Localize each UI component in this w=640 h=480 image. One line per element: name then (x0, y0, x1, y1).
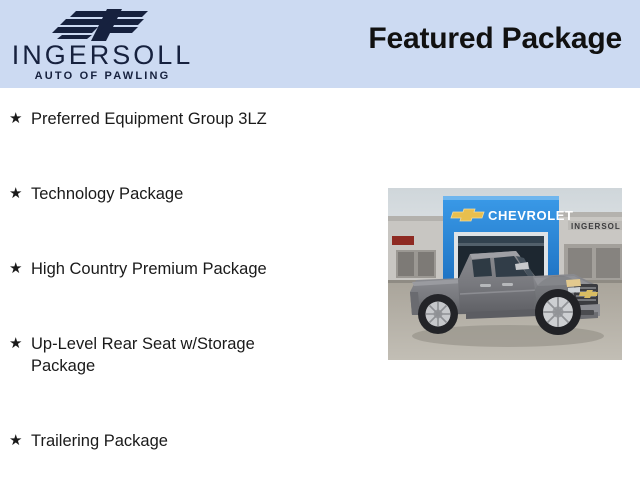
brand-logo: INGERSOLL AUTO OF PAWLING (0, 4, 205, 86)
list-item: ★ High Country Premium Package (9, 258, 339, 280)
ingersoll-wing-emblem-icon (52, 8, 148, 42)
list-item: ★ Trailering Package (9, 430, 339, 452)
star-bullet-icon: ★ (9, 108, 31, 130)
brand-wordmark: INGERSOLL (0, 42, 205, 69)
list-item: ★ Technology Package (9, 183, 339, 205)
list-item: ★ Up-Level Rear Seat w/Storage Package (9, 333, 339, 377)
list-item: ★ Preferred Equipment Group 3LZ (9, 108, 339, 130)
list-item-label: Trailering Package (31, 430, 339, 452)
svg-text:CHEVROLET: CHEVROLET (488, 208, 574, 223)
page-title: Featured Package (368, 22, 622, 56)
star-bullet-icon: ★ (9, 183, 31, 205)
list-item-label: High Country Premium Package (31, 258, 339, 280)
star-bullet-icon: ★ (9, 333, 31, 355)
list-item-label: Technology Package (31, 183, 339, 205)
feature-list: ★ Preferred Equipment Group 3LZ ★ Techno… (0, 88, 370, 480)
star-bullet-icon: ★ (9, 430, 31, 452)
brand-tagline: AUTO OF PAWLING (0, 70, 205, 82)
svg-text:INGERSOL: INGERSOL (571, 222, 621, 231)
list-item-label: Preferred Equipment Group 3LZ (31, 108, 339, 130)
star-bullet-icon: ★ (9, 258, 31, 280)
list-item-label: Up-Level Rear Seat w/Storage Package (31, 333, 339, 377)
vehicle-photo: INGERSOL CHEVROLET (388, 188, 622, 360)
